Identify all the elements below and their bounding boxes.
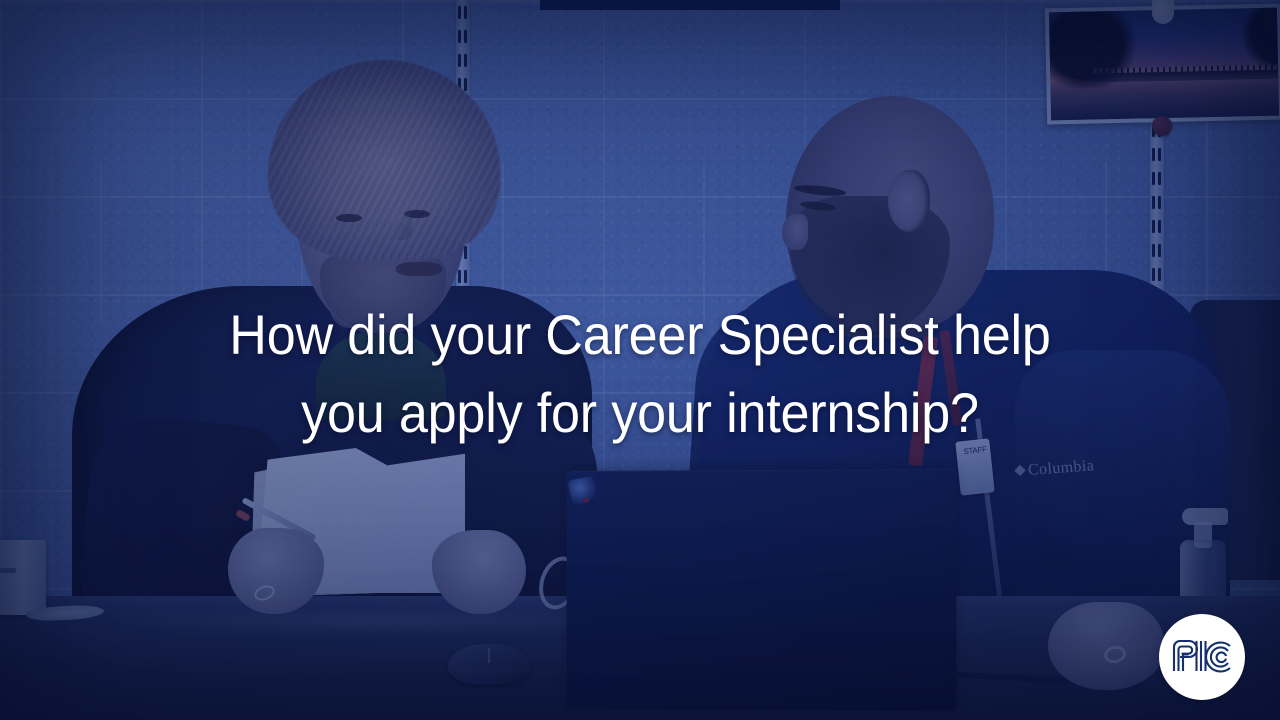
pic-logo-watermark (1159, 614, 1245, 700)
video-frame: STAFF Columbia (0, 0, 1280, 720)
caption-line-2: you apply for your internship? (45, 374, 1235, 452)
question-caption: How did your Career Specialist help you … (45, 296, 1235, 452)
caption-line-1: How did your Career Specialist help (45, 296, 1235, 374)
pic-logo-icon (1170, 637, 1234, 677)
